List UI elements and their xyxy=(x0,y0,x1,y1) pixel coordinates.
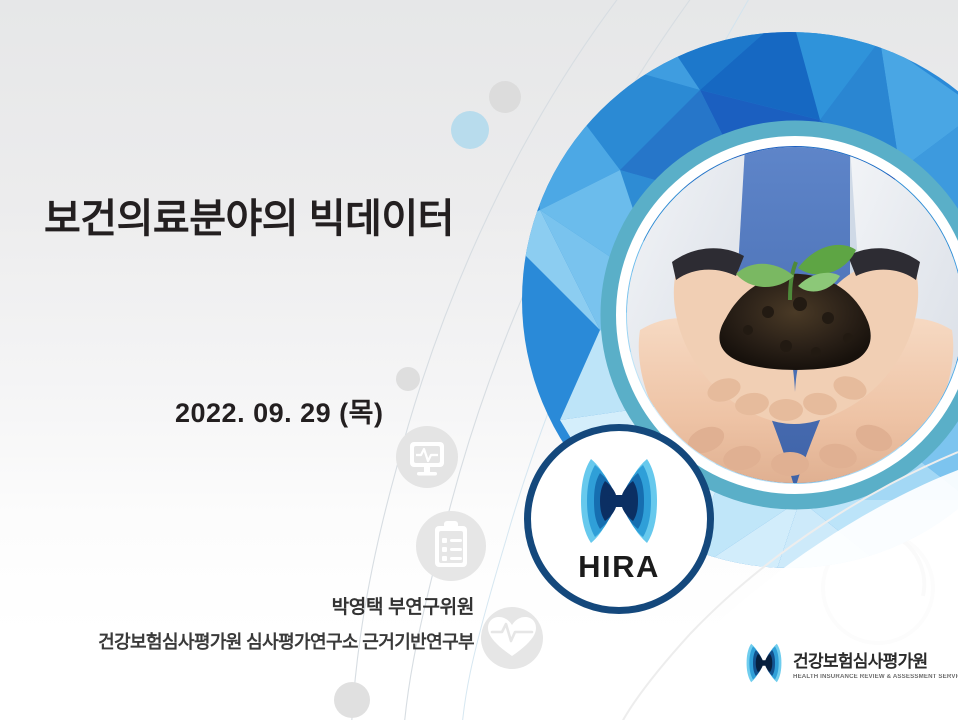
hira-chromosome-mark xyxy=(742,641,786,685)
decor-dot-small-gray xyxy=(396,367,420,391)
presenter-name: 박영택 부연구위원 xyxy=(0,592,474,619)
hira-emblem: HIRA xyxy=(524,424,714,614)
decor-dot-blue xyxy=(451,111,489,149)
heart-pulse-icon xyxy=(481,607,543,669)
presenter-organization: 건강보험심사평가원 심사평가연구소 근거기반연구부 xyxy=(0,628,474,654)
corporate-name-korean: 건강보험심사평가원 xyxy=(793,647,958,672)
presentation-title-slide: 보건의료분야의 빅데이터 2022. 09. 29 (목) 박영택 부연구위원 … xyxy=(0,0,958,720)
decor-dot-gray xyxy=(489,81,521,113)
slide-date: 2022. 09. 29 (목) xyxy=(175,391,383,430)
decor-dot-bottom-gray xyxy=(334,682,370,718)
hira-wordmark: HIRA xyxy=(531,549,707,585)
slide-title: 보건의료분야의 빅데이터 xyxy=(44,186,454,244)
presenter-block: 박영택 부연구위원 건강보험심사평가원 심사평가연구소 근거기반연구부 xyxy=(0,592,474,654)
corporate-logo-text: 건강보험심사평가원 HEALTH INSURANCE REVIEW & ASSE… xyxy=(793,647,958,680)
hira-chromosome-mark xyxy=(571,453,667,549)
corporate-logo: 건강보험심사평가원 HEALTH INSURANCE REVIEW & ASSE… xyxy=(742,641,958,685)
monitor-ecg-icon xyxy=(396,426,458,488)
corporate-name-english: HEALTH INSURANCE REVIEW & ASSESSMENT SER… xyxy=(793,674,958,680)
clipboard-checklist-icon xyxy=(416,511,486,581)
